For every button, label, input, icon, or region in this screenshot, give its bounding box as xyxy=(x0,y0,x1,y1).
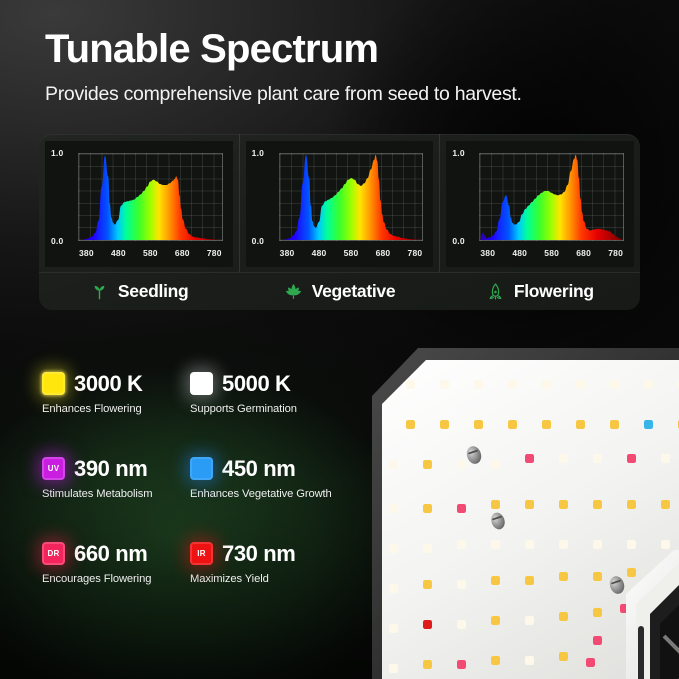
spec-value: 450 nm xyxy=(222,458,295,480)
spec-value: 390 nm xyxy=(74,458,147,480)
sprout-icon xyxy=(90,282,109,301)
x-axis-ticks: 380 480 580 680 780 xyxy=(78,246,223,260)
led-chip-infrared-icon: IR xyxy=(190,542,213,565)
plot-area xyxy=(78,153,223,241)
spectrum-chart-vegetative: 1.0 0.0 xyxy=(240,134,441,272)
x-axis-tick: 680 xyxy=(376,248,391,258)
spec-item-5000k: 5000 K Supports Germination xyxy=(190,372,338,415)
spec-head: 3000 K xyxy=(42,372,190,395)
y-axis-tick-max: 1.0 xyxy=(452,148,464,158)
spectrum-chart-seedling: 1.0 0.0 xyxy=(39,134,240,272)
spec-item-730nm: IR 730 nm Maximizes Yield xyxy=(190,542,338,585)
chart-box: 1.0 0.0 xyxy=(246,141,434,267)
plot-area xyxy=(279,153,424,241)
led-chip-450nm-icon xyxy=(190,457,213,480)
spec-head: IR 730 nm xyxy=(190,542,338,565)
led-spec-grid: 3000 K Enhances Flowering 5000 K Support… xyxy=(42,372,372,585)
spectrum-card: 1.0 0.0 xyxy=(39,134,640,310)
x-axis-tick: 480 xyxy=(111,248,126,258)
spec-head: 450 nm xyxy=(190,457,338,480)
spec-item-3000k: 3000 K Enhances Flowering xyxy=(42,372,190,415)
led-chip-3000k-icon xyxy=(42,372,65,395)
tab-label: Flowering xyxy=(514,281,594,302)
spec-value: 3000 K xyxy=(74,373,143,395)
x-axis-ticks: 380 480 580 680 780 xyxy=(279,246,424,260)
led-chip-uv-icon: UV xyxy=(42,457,65,480)
tab-flowering[interactable]: Flowering xyxy=(440,273,640,310)
spectrum-charts-row: 1.0 0.0 xyxy=(39,134,640,272)
y-axis-tick-max: 1.0 xyxy=(252,148,264,158)
y-axis-tick-min: 0.0 xyxy=(252,236,264,246)
spec-description: Enhances Flowering xyxy=(42,403,190,415)
page-title: Tunable Spectrum xyxy=(45,28,522,70)
spec-head: DR 660 nm xyxy=(42,542,190,565)
page-subtitle: Provides comprehensive plant care from s… xyxy=(45,83,522,106)
tab-label: Vegetative xyxy=(312,281,396,302)
x-axis-tick: 480 xyxy=(312,248,327,258)
chart-box: 1.0 0.0 xyxy=(45,141,233,267)
spec-row: DR 660 nm Encourages Flowering IR 730 nm… xyxy=(42,542,372,585)
x-axis-tick: 680 xyxy=(576,248,591,258)
chart-box: 1.0 0.0 xyxy=(446,141,634,267)
spec-value: 730 nm xyxy=(222,543,295,565)
spectrum-curve-flowering xyxy=(480,154,623,240)
spectrum-curve-vegetative xyxy=(280,154,423,240)
x-axis-tick: 680 xyxy=(175,248,190,258)
x-axis-tick: 580 xyxy=(143,248,158,258)
led-chip-deep-red-icon: DR xyxy=(42,542,65,565)
spec-description: Enhances Vegetative Growth xyxy=(190,488,338,500)
spec-description: Supports Germination xyxy=(190,403,338,415)
y-axis-tick-min: 0.0 xyxy=(452,236,464,246)
spec-item-660nm: DR 660 nm Encourages Flowering xyxy=(42,542,190,585)
x-axis-ticks: 380 480 580 680 780 xyxy=(479,246,624,260)
cannabis-leaf-icon xyxy=(284,282,303,301)
spec-item-450nm: 450 nm Enhances Vegetative Growth xyxy=(190,457,338,500)
x-axis-tick: 380 xyxy=(280,248,295,258)
x-axis-tick: 780 xyxy=(608,248,623,258)
header: Tunable Spectrum Provides comprehensive … xyxy=(45,28,522,106)
flower-bud-icon xyxy=(486,282,505,301)
tab-vegetative[interactable]: Vegetative xyxy=(239,273,439,310)
spectrum-tab-bar: Seedling Vegetative xyxy=(39,272,640,310)
x-axis-tick: 780 xyxy=(207,248,222,258)
spec-head: 5000 K xyxy=(190,372,338,395)
x-axis-tick: 380 xyxy=(480,248,495,258)
y-axis-tick-max: 1.0 xyxy=(51,148,63,158)
x-axis-tick: 580 xyxy=(544,248,559,258)
x-axis-tick: 780 xyxy=(408,248,423,258)
tab-label: Seedling xyxy=(118,281,189,302)
tab-seedling[interactable]: Seedling xyxy=(39,273,239,310)
spec-head: UV 390 nm xyxy=(42,457,190,480)
spec-value: 660 nm xyxy=(74,543,147,565)
spectrum-curve-seedling xyxy=(79,154,222,240)
led-grow-light-panel xyxy=(364,336,679,679)
y-axis-tick-min: 0.0 xyxy=(51,236,63,246)
led-chip-5000k-icon xyxy=(190,372,213,395)
spec-description: Maximizes Yield xyxy=(190,573,338,585)
spec-description: Encourages Flowering xyxy=(42,573,190,585)
led-panel-illustration xyxy=(364,336,679,679)
spec-row: UV 390 nm Stimulates Metabolism 450 nm E… xyxy=(42,457,372,500)
spectrum-chart-flowering: 1.0 0.0 xyxy=(440,134,640,272)
x-axis-tick: 480 xyxy=(512,248,527,258)
plot-area xyxy=(479,153,624,241)
x-axis-tick: 380 xyxy=(79,248,94,258)
x-axis-tick: 580 xyxy=(344,248,359,258)
spec-item-390nm: UV 390 nm Stimulates Metabolism xyxy=(42,457,190,500)
spec-row: 3000 K Enhances Flowering 5000 K Support… xyxy=(42,372,372,415)
spec-value: 5000 K xyxy=(222,373,291,395)
spec-description: Stimulates Metabolism xyxy=(42,488,190,500)
